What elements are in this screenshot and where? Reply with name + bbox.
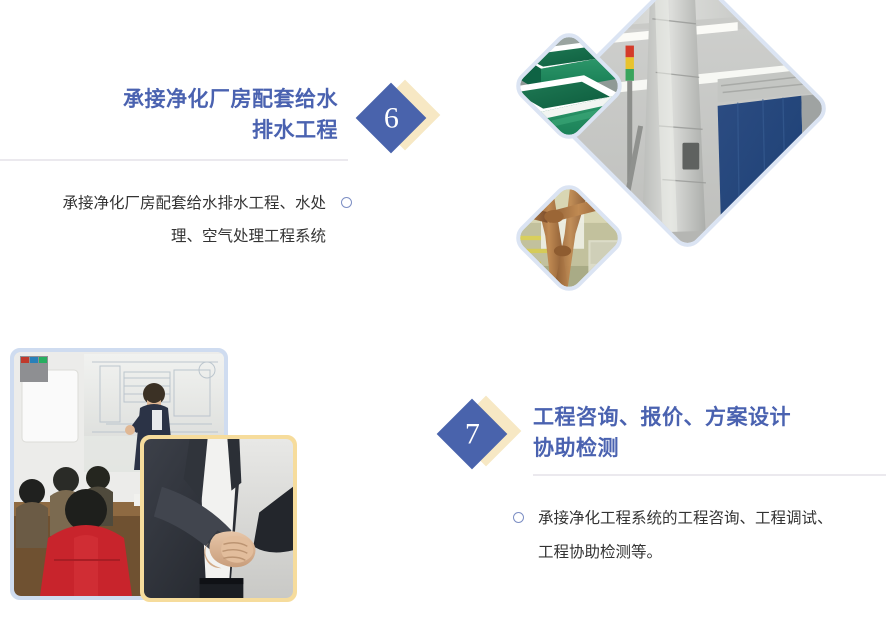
circle-outline-icon xyxy=(341,197,352,208)
copper-piping-photo-inner xyxy=(515,184,622,291)
copper-piping-image xyxy=(515,184,622,291)
section-7-divider xyxy=(533,474,886,476)
section-7-title: 工程咨询、报价、方案设计 协助检测 xyxy=(533,402,886,464)
section-6-divider xyxy=(0,159,348,161)
section-7-number: 7 xyxy=(465,419,480,449)
circle-outline-icon xyxy=(513,512,524,523)
section-6-header: 承接净化厂房配套给水 排水工程 xyxy=(0,84,352,146)
handshake-photo-inner xyxy=(144,439,293,598)
section-6-body-row: 承接净化厂房配套给水排水工程、水处 理、空气处理工程系统 xyxy=(0,187,352,253)
section-7-body-text: 承接净化工程系统的工程咨询、工程调试、 工程协助检测等。 xyxy=(538,502,878,570)
section-6-number: 6 xyxy=(384,103,399,133)
section-6-body-text: 承接净化厂房配套给水排水工程、水处 理、空气处理工程系统 xyxy=(12,187,326,253)
section-7: 工程咨询、报价、方案设计 协助检测 承接净化工程系统的工程咨询、工程调试、 工程… xyxy=(533,402,886,464)
section-7-number-badge: 7 xyxy=(447,406,519,478)
section-7-body-row: 承接净化工程系统的工程咨询、工程调试、 工程协助检测等。 xyxy=(513,502,886,570)
handshake-photo xyxy=(140,435,297,602)
slide-page: 承接净化厂房配套给水 排水工程 承接净化厂房配套给水排水工程、水处 理、空气处理… xyxy=(0,0,886,624)
copper-piping-photo xyxy=(510,179,629,298)
section-6-number-badge: 6 xyxy=(366,90,438,162)
section-6-title: 承接净化厂房配套给水 排水工程 xyxy=(123,84,352,146)
section-6: 承接净化厂房配套给水 排水工程 承接净化厂房配套给水排水工程、水处 理、空气处理… xyxy=(0,84,352,146)
